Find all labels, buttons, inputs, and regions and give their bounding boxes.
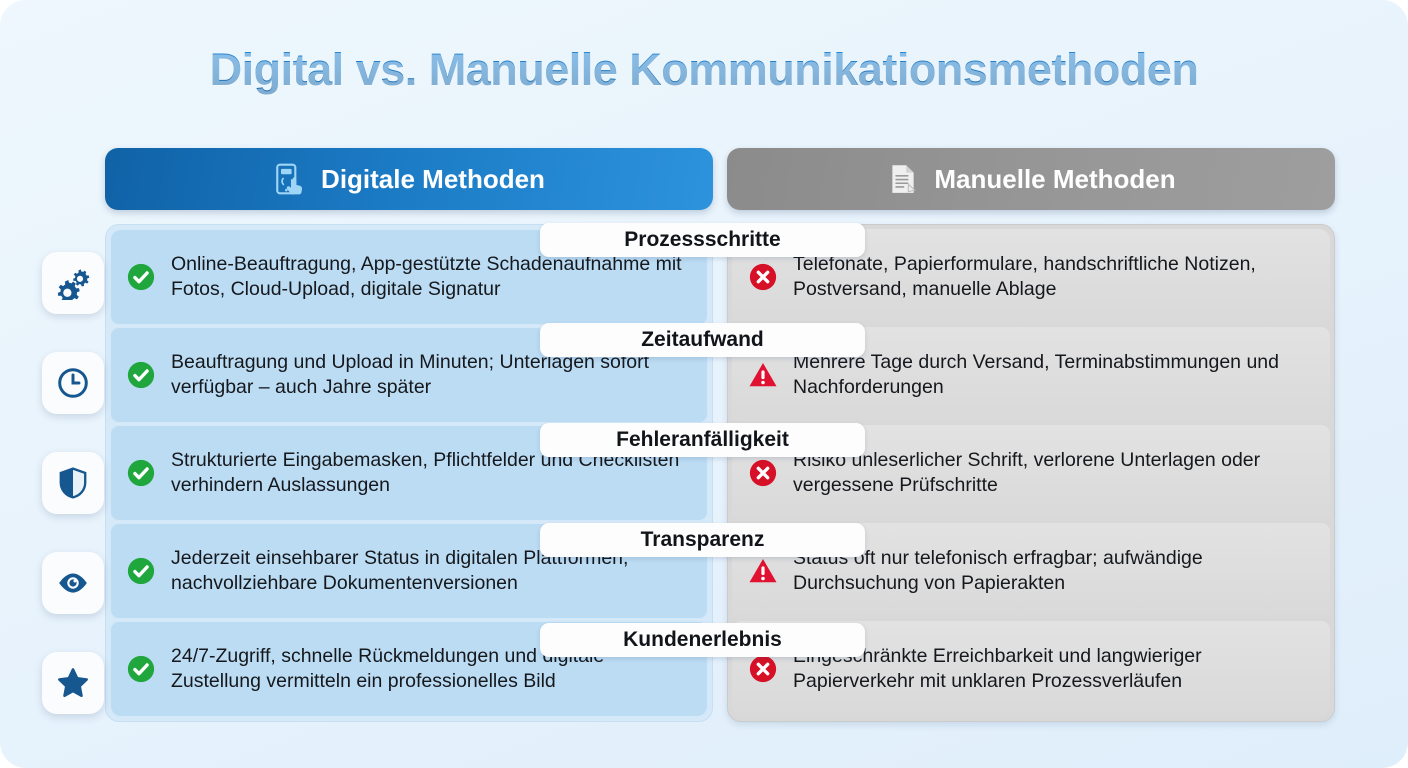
shield-icon [56, 466, 90, 500]
category-chip-zeitaufwand [42, 352, 104, 414]
check-circle-icon [126, 458, 156, 488]
x-circle-icon [748, 654, 778, 684]
category-pill: Fehleranfälligkeit [540, 423, 865, 457]
category-chip-kundenerlebnis [42, 652, 104, 714]
category-label: Fehleranfälligkeit [616, 428, 789, 452]
check-circle-icon [126, 360, 156, 390]
category-pill: Transparenz [540, 523, 865, 557]
cell-text: Risiko unleserlicher Schrift, verlorene … [793, 448, 1316, 498]
category-label: Prozessschritte [624, 228, 780, 252]
star-icon [56, 666, 90, 700]
infographic-canvas: Digital vs. Manuelle Kommunikationsmetho… [0, 0, 1408, 768]
category-chip-transparenz [42, 552, 104, 614]
cell-text: Status oft nur telefonisch erfragbar; au… [793, 546, 1316, 596]
category-icon-chips [42, 224, 104, 722]
category-pill: Prozessschritte [540, 223, 865, 257]
cell-text: Mehrere Tage durch Versand, Terminabstim… [793, 350, 1316, 400]
check-circle-icon [126, 262, 156, 292]
category-chip-fehleranfaelligkeit [42, 452, 104, 514]
category-label: Transparenz [641, 528, 765, 552]
cell-text: Telefonate, Papierformulare, handschrift… [793, 252, 1316, 302]
column-headers: Digitale Methoden Manuelle Methoden [105, 148, 1335, 210]
column-header-manual: Manuelle Methoden [727, 148, 1335, 210]
column-header-digital-label: Digitale Methoden [321, 164, 545, 195]
category-pill: Kundenerlebnis [540, 623, 865, 657]
x-circle-icon [748, 458, 778, 488]
document-page-icon [886, 162, 920, 196]
cell-text: Online-Beauftragung, App-gestützte Schad… [171, 252, 694, 302]
category-label: Kundenerlebnis [623, 628, 782, 652]
eye-icon [56, 566, 90, 600]
page-title: Digital vs. Manuelle Kommunikationsmetho… [0, 44, 1408, 96]
category-label: Zeitaufwand [641, 328, 764, 352]
category-pill: Zeitaufwand [540, 323, 865, 357]
check-circle-icon [126, 654, 156, 684]
category-chip-prozessschritte [42, 252, 104, 314]
warning-triangle-icon [748, 556, 778, 586]
clock-icon [56, 366, 90, 400]
warning-triangle-icon [748, 360, 778, 390]
gears-icon [56, 266, 90, 300]
mobile-tap-icon [273, 162, 307, 196]
check-circle-icon [126, 556, 156, 586]
column-header-manual-label: Manuelle Methoden [934, 164, 1175, 195]
cell-text: Beauftragung und Upload in Minuten; Unte… [171, 350, 694, 400]
column-header-digital: Digitale Methoden [105, 148, 713, 210]
cell-text: Eingeschränkte Erreichbarkeit und langwi… [793, 644, 1316, 694]
x-circle-icon [748, 262, 778, 292]
